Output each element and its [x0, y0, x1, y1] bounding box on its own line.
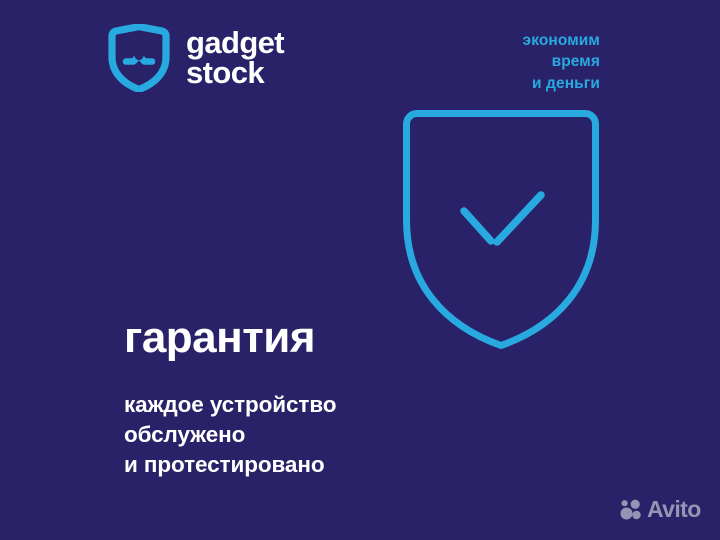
brand-lockup: gadget stock — [106, 24, 284, 92]
brand-name-line-1: gadget — [186, 28, 284, 58]
tagline-line-1: экономим — [523, 30, 600, 51]
avito-dots-icon — [620, 499, 642, 521]
avito-wordmark-label: Avito — [647, 498, 701, 521]
body-copy-line-1: каждое устройство — [124, 390, 336, 420]
page-headline: гарантия — [124, 316, 315, 360]
brand-name-line-2: stock — [186, 58, 284, 88]
tagline-line-3: и деньги — [523, 73, 600, 94]
tagline: экономим время и деньги — [523, 30, 600, 94]
shield-logo-icon — [106, 24, 172, 92]
shield-check-icon — [396, 105, 606, 355]
poster-canvas: gadget stock экономим время и деньги гар… — [0, 0, 720, 540]
tagline-line-2: время — [523, 51, 600, 72]
body-copy-line-2: обслужено — [124, 420, 336, 450]
body-copy-line-3: и протестировано — [124, 450, 336, 480]
brand-wordmark: gadget stock — [186, 28, 284, 89]
avito-watermark: Avito — [620, 498, 701, 521]
body-copy: каждое устройство обслужено и протестиро… — [124, 390, 336, 480]
